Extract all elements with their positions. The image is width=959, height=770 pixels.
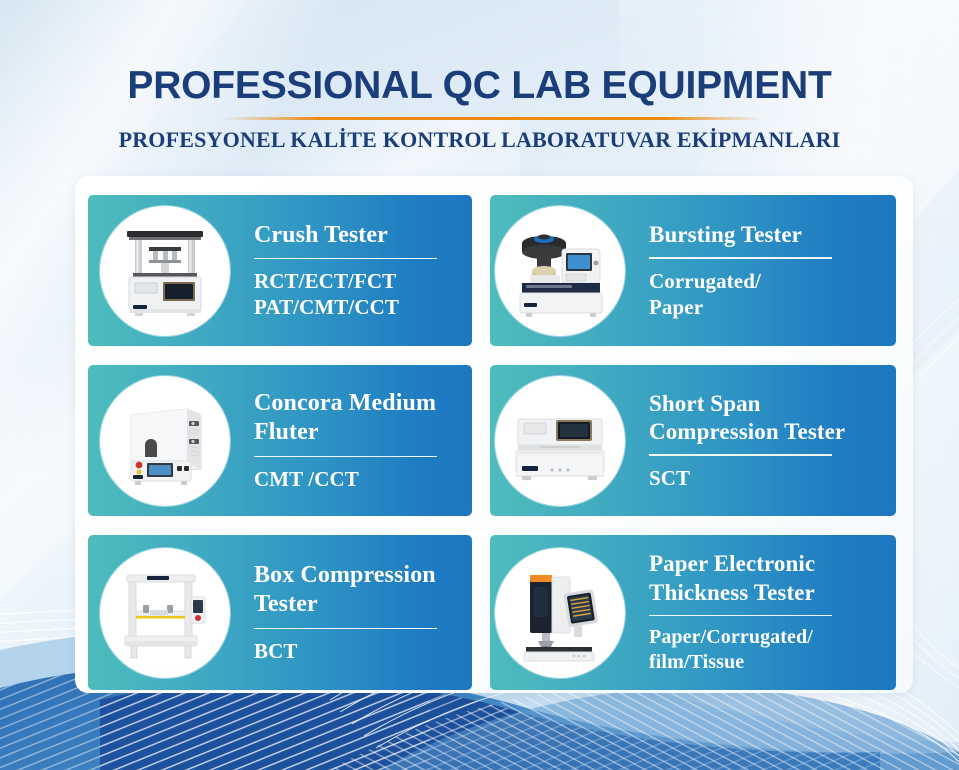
card-subtitle: BCT [254, 638, 462, 664]
card-divider [254, 258, 437, 259]
card-title: Concora Medium Fluter [254, 389, 462, 448]
equipment-card-short-span-compression-tester[interactable]: Short Span Compression Tester SCT [490, 365, 896, 516]
card-subtitle: SCT [649, 465, 886, 491]
card-title: Bursting Tester [649, 221, 886, 249]
crush-tester-photo [100, 206, 230, 336]
short-span-compression-tester-icon [504, 389, 616, 493]
card-divider [649, 615, 832, 616]
bursting-tester-icon [504, 219, 616, 323]
paper-electronic-thickness-tester-photo [495, 548, 625, 678]
card-subtitle: Paper/Corrugated/ film/Tissue [649, 625, 886, 675]
card-subtitle-line: Corrugated/ [649, 268, 886, 294]
card-text-block: Concora Medium Fluter CMT /CCT [230, 389, 472, 492]
box-compression-tester-icon [109, 561, 221, 665]
card-subtitle-line: film/Tissue [649, 650, 886, 675]
card-title: Crush Tester [254, 221, 462, 250]
paper-electronic-thickness-tester-icon [504, 561, 616, 665]
card-title: Short Span Compression Tester [649, 390, 886, 446]
box-compression-tester-photo [100, 548, 230, 678]
card-subtitle: RCT/ECT/FCT PAT/CMT/CCT [254, 268, 462, 320]
page-subtitle: PROFESYONEL KALİTE KONTROL LABORATUVAR E… [0, 126, 959, 154]
card-subtitle-line: Paper/Corrugated/ [649, 625, 886, 650]
crush-tester-icon [109, 219, 221, 323]
card-subtitle-line: CMT /CCT [254, 466, 462, 492]
concora-medium-fluter-icon [109, 389, 221, 493]
card-subtitle: Corrugated/ Paper [649, 268, 886, 320]
card-text-block: Bursting Tester Corrugated/ Paper [625, 221, 896, 320]
equipment-card-paper-electronic-thickness-tester[interactable]: Paper Electronic Thickness Tester Paper/… [490, 535, 896, 690]
title-divider [222, 117, 762, 120]
card-divider [649, 454, 832, 455]
page-title: PROFESSIONAL QC LAB EQUIPMENT [0, 66, 959, 105]
equipment-card-concora-medium-fluter[interactable]: Concora Medium Fluter CMT /CCT [88, 365, 472, 516]
concora-medium-fluter-photo [100, 376, 230, 506]
card-text-block: Paper Electronic Thickness Tester Paper/… [625, 550, 896, 674]
card-subtitle: CMT /CCT [254, 466, 462, 492]
equipment-card-bursting-tester[interactable]: Bursting Tester Corrugated/ Paper [490, 195, 896, 346]
card-title: Paper Electronic Thickness Tester [649, 550, 886, 606]
equipment-card-crush-tester[interactable]: Crush Tester RCT/ECT/FCT PAT/CMT/CCT [88, 195, 472, 346]
card-text-block: Box Compression Tester BCT [230, 561, 472, 664]
bursting-tester-photo [495, 206, 625, 336]
card-divider [649, 257, 832, 258]
card-subtitle-line: SCT [649, 465, 886, 491]
card-text-block: Crush Tester RCT/ECT/FCT PAT/CMT/CCT [230, 221, 472, 321]
card-divider [254, 456, 437, 457]
card-subtitle-line: BCT [254, 638, 462, 664]
card-title: Box Compression Tester [254, 561, 462, 620]
short-span-compression-tester-photo [495, 376, 625, 506]
card-subtitle-line: Paper [649, 294, 886, 320]
card-divider [254, 628, 437, 629]
card-text-block: Short Span Compression Tester SCT [625, 390, 896, 491]
card-subtitle-line: PAT/CMT/CCT [254, 294, 462, 320]
equipment-card-box-compression-tester[interactable]: Box Compression Tester BCT [88, 535, 472, 690]
card-subtitle-line: RCT/ECT/FCT [254, 268, 462, 294]
equipment-card-grid: Crush Tester RCT/ECT/FCT PAT/CMT/CCT [88, 195, 896, 677]
